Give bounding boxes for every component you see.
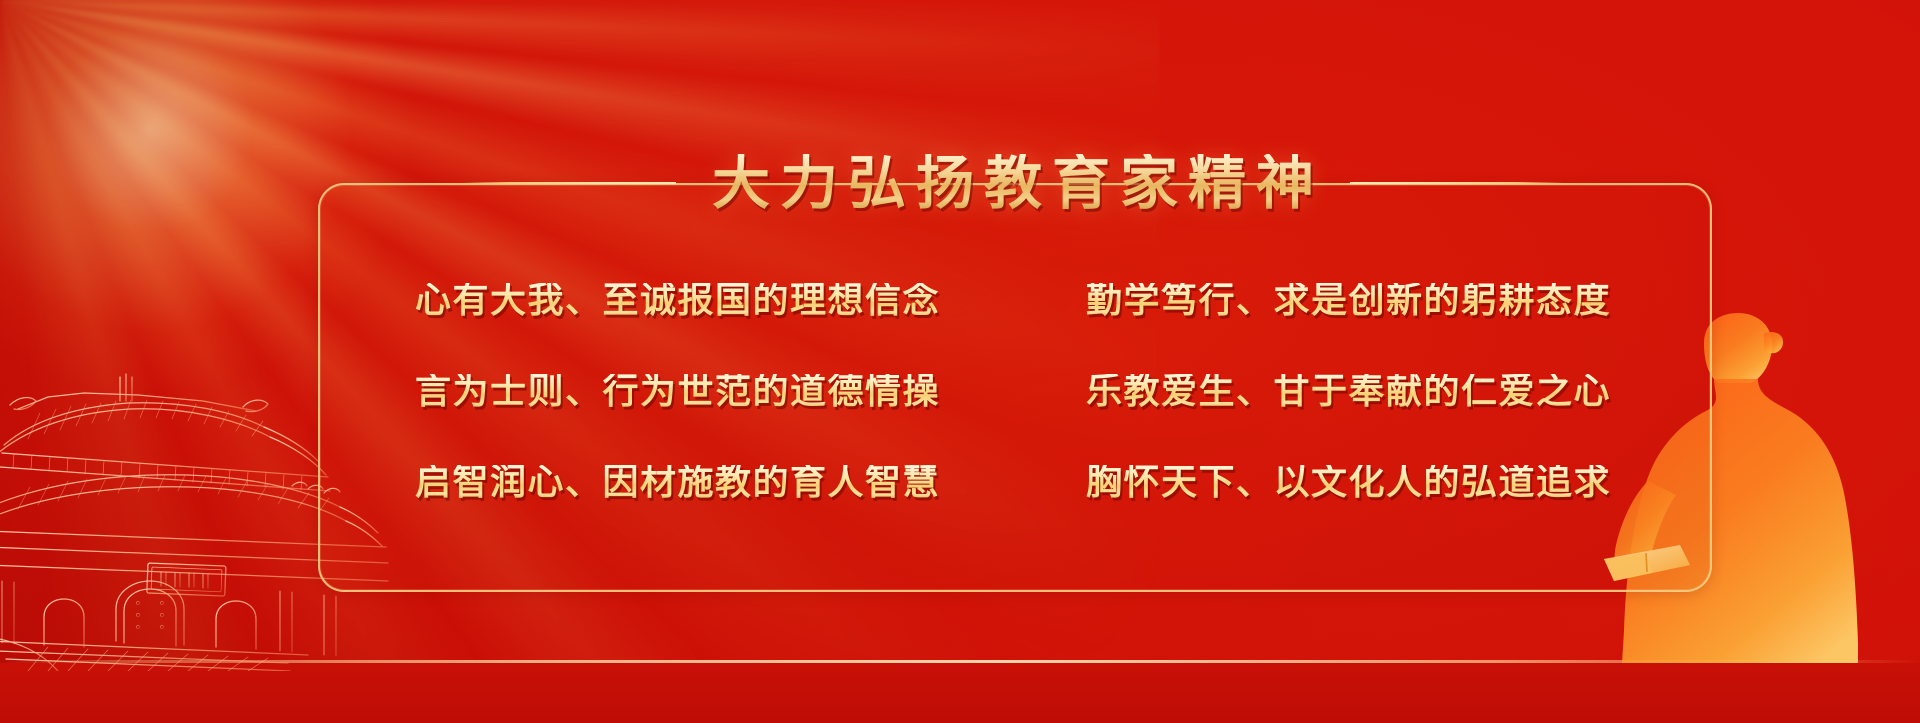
bottom-gold-stripe [0, 660, 1920, 663]
slogan-row3-right: 胸怀天下、以文化人的弘道追求 [1086, 465, 1611, 501]
slogan-row2-right: 乐教爱生、甘于奉献的仁爱之心 [1086, 374, 1611, 410]
slogan-grid: 心有大我、至诚报国的理想信念 勤学笃行、求是创新的躬耕态度 言为士则、行为世范的… [318, 256, 1708, 528]
page-title: 大力弘扬教育家精神 [702, 154, 1324, 212]
horizontal-rule-icon-right [1350, 182, 1564, 184]
slogan-row1-left: 心有大我、至诚报国的理想信念 [415, 283, 940, 319]
banner-stage: 大力弘扬教育家精神 心有大我、至诚报国的理想信念 勤学笃行、求是创新的躬耕态度 … [0, 0, 1920, 723]
banner-title-row: 大力弘扬教育家精神 [318, 140, 1708, 226]
slogan-row2-left: 言为士则、行为世范的道德情操 [415, 374, 940, 410]
slogan-row1-right: 勤学笃行、求是创新的躬耕态度 [1086, 283, 1611, 319]
slogan-row3-left: 启智润心、因材施教的育人智慧 [415, 465, 940, 501]
horizontal-rule-icon-left [462, 182, 676, 184]
bottom-band [0, 663, 1920, 723]
